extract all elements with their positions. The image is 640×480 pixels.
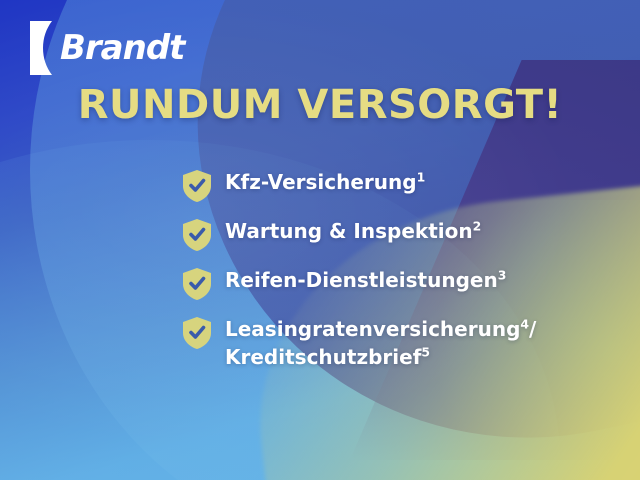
shield-check-icon [182, 316, 212, 350]
footnote-marker: 5 [421, 345, 430, 360]
brandt-wordmark: Brandt [60, 31, 184, 65]
list-item-label: Wartung & Inspektion2 [225, 217, 481, 245]
footnote-marker: 4 [520, 316, 529, 331]
list-item-label: Reifen-Dienstleistungen3 [225, 266, 506, 294]
list-item: Reifen-Dienstleistungen3 [182, 266, 536, 301]
footnote-marker: 2 [473, 218, 482, 233]
page-title: RUNDUM VERSORGT! [0, 82, 640, 128]
shield-check-icon [182, 267, 212, 301]
brandt-bracket-mark-icon [26, 20, 56, 76]
line-suffix: / [529, 317, 536, 341]
list-item: Wartung & Inspektion2 [182, 217, 536, 252]
shield-check-icon [182, 169, 212, 203]
list-item-label: Leasingratenversicherung4/Kreditschutzbr… [225, 315, 536, 372]
list-item: Kfz-Versicherung1 [182, 168, 536, 203]
benefits-list: Kfz-Versicherung1 Wartung & Inspektion2 … [182, 168, 536, 372]
brandt-logo[interactable]: Brandt [26, 20, 184, 76]
list-item: Leasingratenversicherung4/Kreditschutzbr… [182, 315, 536, 372]
footnote-marker: 1 [417, 169, 426, 184]
promo-slide: Brandt RUNDUM VERSORGT! Kfz-Versicherung… [0, 0, 640, 480]
footnote-marker: 3 [498, 267, 507, 282]
list-item-label: Kfz-Versicherung1 [225, 168, 425, 196]
shield-check-icon [182, 218, 212, 252]
